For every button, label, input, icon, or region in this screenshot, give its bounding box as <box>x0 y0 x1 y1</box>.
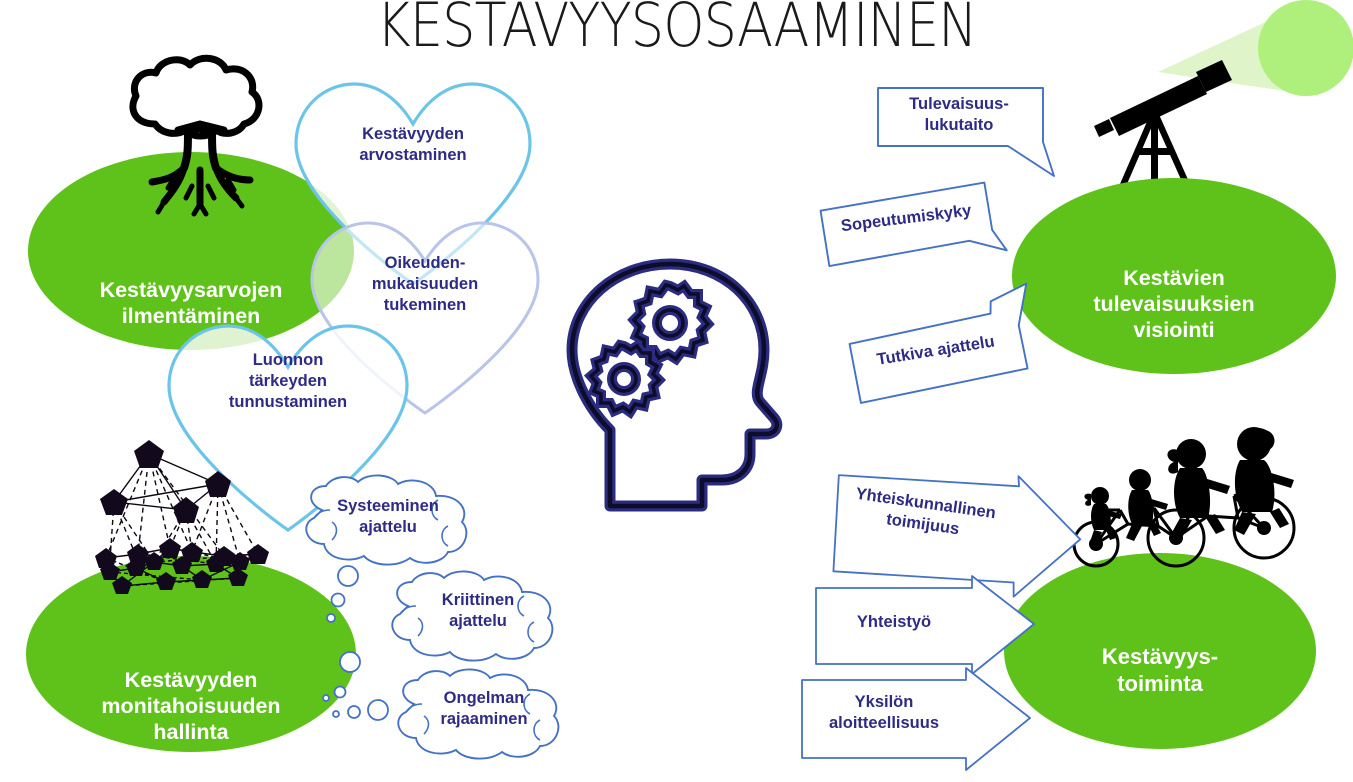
hub-action-line2: toiminta <box>1014 671 1306 698</box>
bubble-tutkiva-ajattelu[interactable]: Tutkiva ajattelu <box>840 288 1053 416</box>
hub-visions-line3: visiointi <box>1022 317 1326 343</box>
hub-complexity-line1: Kestävyyden <box>36 667 346 693</box>
family-tandem-bike-icon <box>1058 418 1308 578</box>
hub-complexity-line3: hallinta <box>36 719 346 745</box>
tree-icon <box>108 52 293 237</box>
hub-visions-line2: tulevaisuuksien <box>1022 291 1326 317</box>
infographic-canvas: KESTÄVYYSOSAAMINEN Kestävyysarvojen ilme… <box>0 0 1353 760</box>
arrow-yksilon-aloitteellisuus[interactable]: Yksilön aloitteellisuus <box>798 670 1048 782</box>
bubble-sopeutumiskyky[interactable]: Sopeutumiskyky <box>813 173 1023 293</box>
hub-action-line1: Kestävyys- <box>1014 644 1306 671</box>
head-with-gears-icon <box>562 258 800 526</box>
hub-visions-line1: Kestävien <box>1022 265 1326 291</box>
cloud-kriittinen-ajattelu[interactable]: Kriittinen ajattelu <box>376 570 572 664</box>
network-graph-icon <box>92 432 292 602</box>
hub-complexity-line2: monitahoisuuden <box>36 693 346 719</box>
cloud-systeeminen-ajattelu[interactable]: Systeeminen ajattelu <box>288 474 488 570</box>
hub-visions-ellipse[interactable]: Kestävien tulevaisuuksien visiointi <box>1012 178 1336 374</box>
telescope-icon <box>1080 48 1260 188</box>
bubble-tulevaisuuslukutaito[interactable]: Tulevaisuus- lukutaito <box>868 80 1068 190</box>
hub-visions-label: Kestävien tulevaisuuksien visiointi <box>1012 251 1336 330</box>
cloud-ongelman-rajaaminen[interactable]: Ongelman rajaaminen <box>380 670 580 762</box>
